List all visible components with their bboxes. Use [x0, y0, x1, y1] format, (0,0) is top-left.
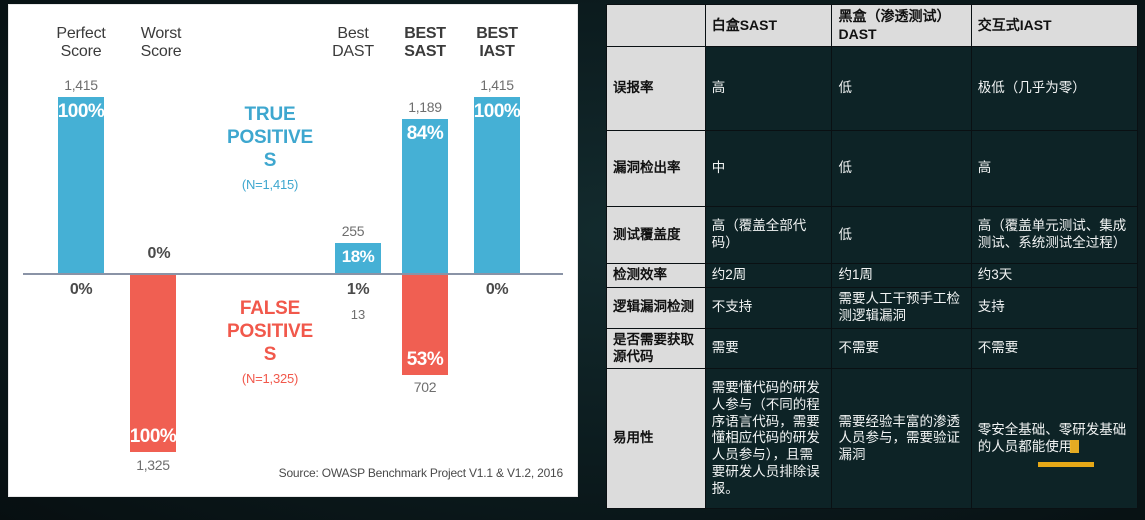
bar-label-dast-tp: 18% [342, 247, 375, 267]
table-row-needs-source-code: 是否需要获取源代码 需要 不需要 不需要 [607, 328, 1138, 369]
chart-source-note: Source: OWASP Benchmark Project V1.1 & V… [279, 466, 563, 480]
col-header-sast-text: 白盒SAST [712, 17, 777, 33]
bar-sast-true-positive: 84% [402, 119, 448, 274]
ease-of-use-iast-wrapper: 零安全基础、零研发基础的人员都能使用 [978, 422, 1131, 456]
row-label-test-coverage: 测试覆盖度 [607, 207, 706, 264]
text-cursor-icon [1070, 440, 1079, 453]
cell-logic-flaw-dast: 需要人工干预手工检测逻辑漏洞 [832, 287, 971, 328]
header-line-1: BEST [404, 25, 445, 42]
cell-logic-flaw-iast: 支持 [971, 287, 1137, 328]
bar-label-iast-tp: 100% [474, 101, 521, 123]
cell-false-positive-rate-sast: 高 [705, 47, 832, 131]
cell-test-coverage-dast: 低 [832, 207, 971, 264]
row-label-logic-flaw-detection: 逻辑漏洞检测 [607, 287, 706, 328]
bar-value-worst-top: 0% [117, 245, 201, 263]
cell-detection-rate-sast: 中 [705, 131, 832, 207]
table-header-row: 白盒SAST 黑盒（渗透测试） DAST 交互式IAST [607, 5, 1138, 47]
table-row-test-coverage: 测试覆盖度 高（覆盖全部代码） 低 高（覆盖单元测试、集成测试、系统测试全过程） [607, 207, 1138, 264]
row-label-detection-rate: 漏洞检出率 [607, 131, 706, 207]
legend-tp-line1: TRUE [205, 103, 335, 126]
cell-detection-efficiency-sast: 约2周 [705, 264, 832, 288]
table-col-header-iast: 交互式IAST [971, 5, 1137, 47]
bar-value-iast-bottom: 0% [455, 281, 539, 299]
header-line-2: Score [141, 43, 182, 60]
cell-detection-rate-iast: 高 [971, 131, 1137, 207]
row-label-false-positive-rate: 误报率 [607, 47, 706, 131]
header-line-2: IAST [479, 43, 514, 60]
table-row-logic-flaw-detection: 逻辑漏洞检测 不支持 需要人工干预手工检测逻辑漏洞 支持 [607, 287, 1138, 328]
bar-value-dast-top: 255 [311, 223, 395, 239]
bar-dast-true-positive: 18% [335, 243, 381, 274]
cell-false-positive-rate-iast: 极低（几乎为零） [971, 47, 1137, 131]
table-row-ease-of-use: 易用性 需要懂代码的研发人参与（不同的程序语言代码，需要懂相应代码的研发人员参与… [607, 369, 1138, 509]
row-label-ease-of-use: 易用性 [607, 369, 706, 509]
row-label-detection-efficiency: 检测效率 [607, 264, 706, 288]
cell-test-coverage-iast: 高（覆盖单元测试、集成测试、系统测试全过程） [971, 207, 1137, 264]
cell-ease-of-use-iast: 零安全基础、零研发基础的人员都能使用 [971, 369, 1137, 509]
chart-header-worst-score: Worst Score [107, 25, 215, 61]
cell-detection-efficiency-dast: 约1周 [832, 264, 971, 288]
cell-needs-source-sast: 需要 [705, 328, 832, 369]
bar-value-sast-bottom: 702 [383, 379, 467, 395]
table-row-detection-efficiency: 检测效率 约2周 约1周 约3天 [607, 264, 1138, 288]
legend-tp-line3: S [205, 149, 335, 172]
bar-perfect-true-positive: 100% [58, 97, 104, 274]
chart-plot-area: Perfect Score Worst Score Best DAST BEST… [9, 5, 577, 496]
bar-value-perfect-top: 1,415 [39, 77, 123, 93]
legend-fp-line2: POSITIVE [205, 320, 335, 343]
legend-true-positives: TRUE POSITIVE S (N=1,415) [205, 103, 335, 192]
table-col-header-dast: 黑盒（渗透测试） DAST [832, 5, 971, 47]
bar-label-perfect-tp: 100% [58, 101, 105, 123]
cell-detection-rate-dast: 低 [832, 131, 971, 207]
header-line-1: Worst [141, 25, 182, 42]
bar-value-sast-top: 1,189 [383, 99, 467, 115]
bar-value-iast-top: 1,415 [455, 77, 539, 93]
bar-value-dast-axis-count: 13 [316, 307, 400, 322]
header-line-2: DAST [332, 43, 374, 60]
sast-dast-iast-comparison-table: 白盒SAST 黑盒（渗透测试） DAST 交互式IAST 误报率 高 低 极低（… [606, 4, 1138, 509]
legend-fp-count: (N=1,325) [205, 371, 335, 387]
bar-label-sast-fp: 53% [407, 349, 444, 371]
header-line-1: BEST [476, 25, 517, 42]
header-line-2: SAST [404, 43, 445, 60]
cell-false-positive-rate-dast: 低 [832, 47, 971, 131]
chart-zero-axis-line [23, 273, 563, 275]
comparison-table-panel: 白盒SAST 黑盒（渗透测试） DAST 交互式IAST 误报率 高 低 极低（… [606, 4, 1138, 504]
bar-value-dast-axis-pct: 1% [316, 281, 400, 299]
chart-header-best-iast: BEST IAST [453, 25, 541, 61]
cell-ease-of-use-sast: 需要懂代码的研发人参与（不同的程序语言代码，需要懂相应代码的研发人员参与），且需… [705, 369, 832, 509]
bar-value-perfect-bottom: 0% [39, 281, 123, 299]
table-corner-cell [607, 5, 706, 47]
col-header-dast-text: 黑盒（渗透测试） DAST [838, 8, 950, 42]
cell-needs-source-iast: 不需要 [971, 328, 1137, 369]
legend-fp-line3: S [205, 343, 335, 366]
cell-logic-flaw-sast: 不支持 [705, 287, 832, 328]
header-line-1: Perfect [56, 25, 105, 42]
bar-sast-false-positive: 53% [402, 275, 448, 375]
header-line-1: Best [337, 25, 368, 42]
header-line-2: Score [61, 43, 102, 60]
cell-ease-of-use-iast-text: 零安全基础、零研发基础的人员都能使用 [978, 422, 1127, 454]
bar-worst-false-positive: 100% [130, 275, 176, 452]
table-col-header-sast: 白盒SAST [705, 5, 832, 47]
row-label-needs-source-code: 是否需要获取源代码 [607, 328, 706, 369]
legend-tp-line2: POSITIVE [205, 126, 335, 149]
col-header-iast-text: 交互式IAST [978, 17, 1052, 33]
legend-tp-count: (N=1,415) [205, 177, 335, 193]
owasp-benchmark-chart: Perfect Score Worst Score Best DAST BEST… [8, 4, 578, 497]
slide-canvas: Perfect Score Worst Score Best DAST BEST… [0, 0, 1145, 520]
bar-label-worst-fp: 100% [130, 426, 177, 448]
cell-needs-source-dast: 不需要 [832, 328, 971, 369]
highlight-underline [1038, 462, 1094, 467]
bar-label-sast-tp: 84% [407, 123, 444, 145]
table-row-detection-rate: 漏洞检出率 中 低 高 [607, 131, 1138, 207]
bar-iast-true-positive: 100% [474, 97, 520, 274]
cell-detection-efficiency-iast: 约3天 [971, 264, 1137, 288]
table-row-false-positive-rate: 误报率 高 低 极低（几乎为零） [607, 47, 1138, 131]
bar-value-worst-bottom: 1,325 [111, 457, 195, 473]
cell-test-coverage-sast: 高（覆盖全部代码） [705, 207, 832, 264]
cell-ease-of-use-dast: 需要经验丰富的渗透人员参与，需要验证漏洞 [832, 369, 971, 509]
